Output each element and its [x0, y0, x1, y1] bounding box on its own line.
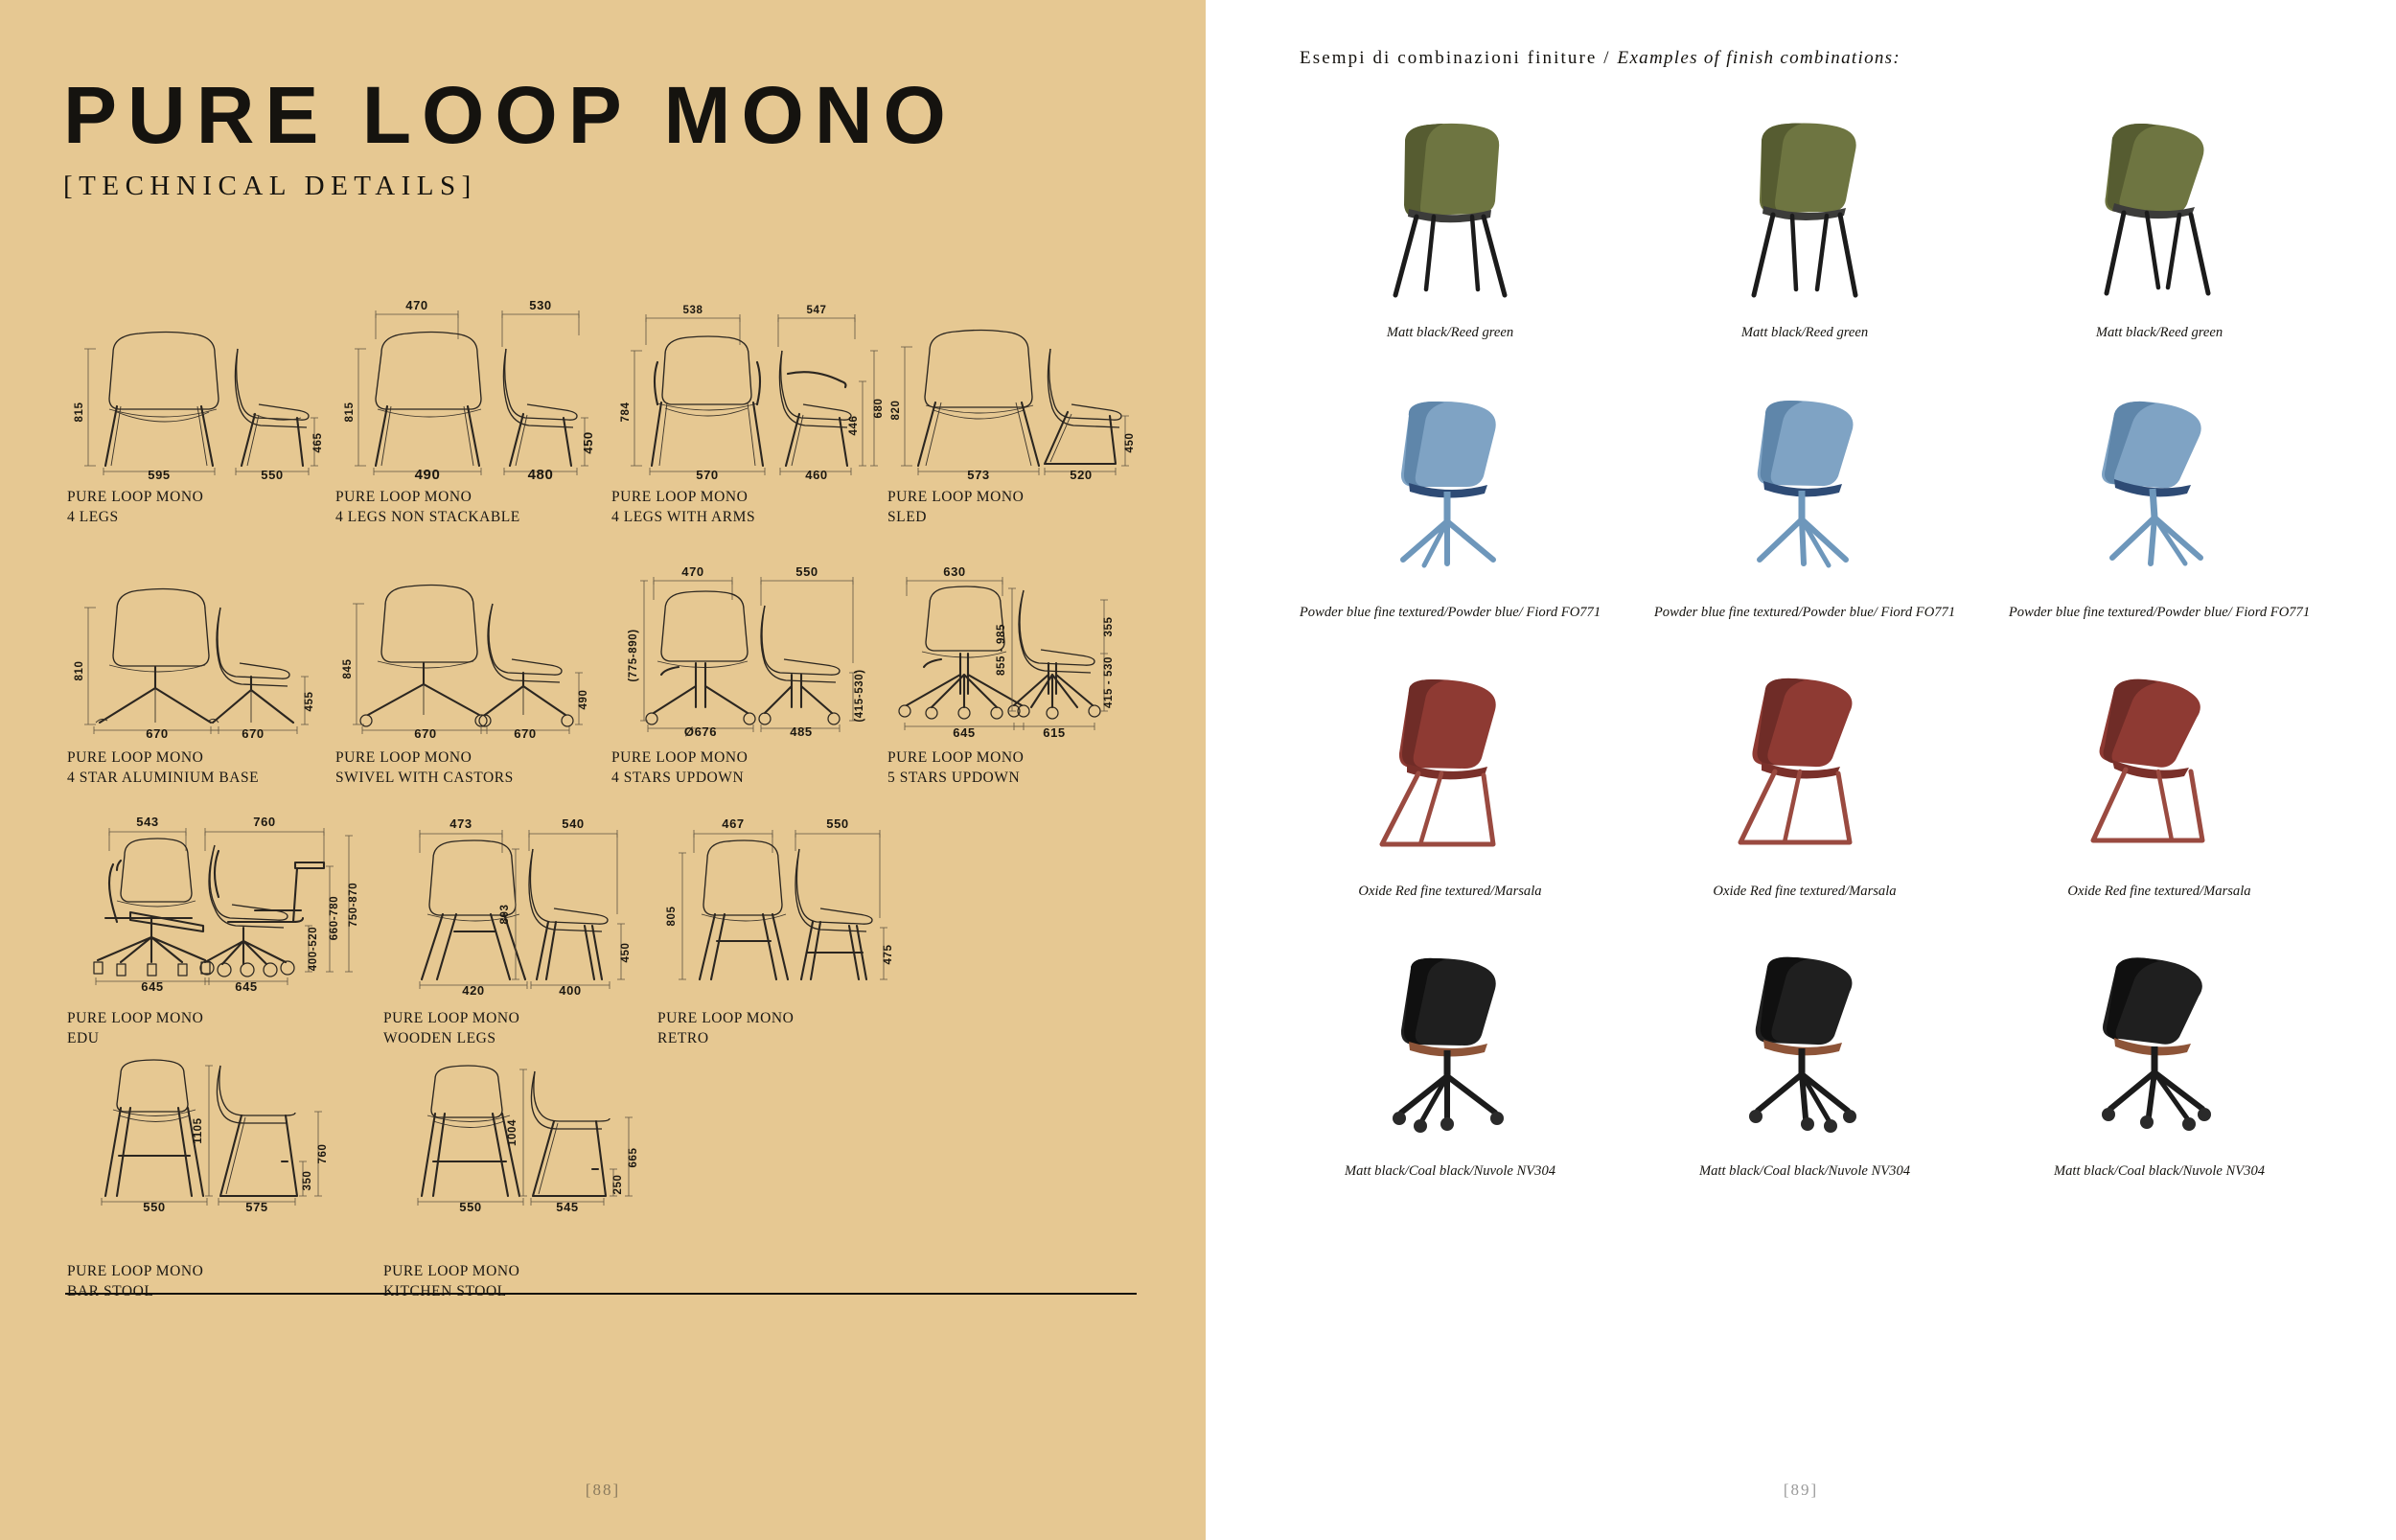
tech-group-4-legs: 815 595	[67, 307, 335, 527]
svg-text:680: 680	[873, 399, 885, 419]
drawing-swivel-castors: 845 670 490	[335, 567, 594, 740]
chair-image-powder-blue-front	[1349, 401, 1551, 592]
finish-combinations-header: Esempi di combinazioni finiture / Exampl…	[1300, 48, 1901, 69]
svg-text:460: 460	[805, 468, 828, 482]
drawing-bar-stool: 550 1105 350	[67, 1062, 355, 1253]
svg-text:550: 550	[826, 816, 849, 831]
svg-text:660-780: 660-780	[329, 896, 340, 940]
tech-group-sled: 820 573 450 520	[887, 307, 1140, 527]
finish-caption: Powder blue fine textured/Powder blue/ F…	[2009, 604, 2310, 623]
tech-caption-retro: PURE LOOP MONO RETRO	[657, 1009, 910, 1048]
svg-text:645: 645	[953, 725, 976, 740]
finish-cell[interactable]: Matt black/Reed green	[1982, 105, 2337, 343]
svg-text:615: 615	[1043, 725, 1066, 740]
tech-caption-5-stars-updown: PURE LOOP MONO 5 STARS UPDOWN	[887, 748, 1140, 788]
svg-text:670: 670	[414, 726, 437, 741]
finish-caption: Oxide Red fine textured/Marsala	[2067, 883, 2250, 902]
tech-group-retro: 467 805 550	[657, 818, 910, 1048]
tech-caption-bar-stool: PURE LOOP MONO BAR STOOL	[67, 1262, 383, 1301]
svg-text:550: 550	[795, 564, 818, 579]
svg-text:540: 540	[562, 816, 585, 831]
svg-text:470: 470	[405, 298, 428, 312]
svg-text:815: 815	[74, 402, 85, 423]
tech-group-4-star-aluminium-base: 810 670 455	[67, 567, 335, 788]
chair-photo	[1982, 664, 2337, 871]
svg-text:520: 520	[1070, 468, 1093, 482]
chair-photo	[1273, 944, 1627, 1151]
finish-cell[interactable]: Powder blue fine textured/Powder blue/ F…	[1627, 385, 1982, 623]
svg-text:630: 630	[943, 564, 966, 579]
svg-text:645: 645	[141, 979, 164, 994]
chair-photo	[1273, 664, 1627, 871]
header-english: Examples of finish combinations:	[1618, 48, 1901, 68]
svg-text:(415-530): (415-530)	[854, 669, 865, 722]
drawing-kitchen-stool: 550 1004 250	[383, 1062, 661, 1253]
tech-row-3: 543	[67, 809, 1140, 1048]
finish-cell[interactable]: Oxide Red fine textured/Marsala	[1982, 664, 2337, 902]
horizontal-rule	[65, 1293, 1137, 1295]
drawing-4-legs-with-arms: 538 78	[611, 307, 870, 479]
drawing-5-stars-updown: 630 64	[887, 567, 1127, 740]
technical-drawings-grid: 815 595	[67, 287, 1140, 1301]
tech-caption-4-legs-non-stackable: PURE LOOP MONO 4 LEGS NON STACKABLE	[335, 488, 611, 527]
finish-cell[interactable]: Matt black/Coal black/Nuvole NV304	[1982, 944, 2337, 1182]
chair-image-reed-green-front	[1349, 121, 1551, 312]
chair-photo	[1273, 105, 1627, 312]
svg-text:855 - 985: 855 - 985	[996, 624, 1007, 676]
drawing-4-legs-non-stackable: 470 815 490	[335, 307, 594, 479]
chair-photo	[1627, 105, 1982, 312]
tech-group-5-stars-updown: 630 64	[887, 567, 1140, 788]
svg-text:550: 550	[459, 1200, 482, 1214]
finish-cell[interactable]: Powder blue fine textured/Powder blue/ F…	[1273, 385, 1627, 623]
svg-text:473: 473	[449, 816, 472, 831]
left-page: PURE LOOP MONO [TECHNICAL DETAILS]	[0, 0, 1206, 1540]
tech-group-4-legs-non-stackable: 470 815 490	[335, 307, 611, 527]
finish-cell[interactable]: Matt black/Reed green	[1273, 105, 1627, 343]
svg-text:820: 820	[890, 401, 902, 421]
svg-text:(775-890): (775-890)	[628, 629, 639, 681]
svg-text:750-870: 750-870	[348, 883, 359, 927]
finish-caption: Oxide Red fine textured/Marsala	[1358, 883, 1541, 902]
svg-text:670: 670	[242, 726, 265, 741]
chair-image-coal-black-front	[1349, 959, 1551, 1151]
finish-row-oxide-red: Oxide Red fine textured/Marsala Oxide Re…	[1273, 664, 2337, 902]
svg-text:575: 575	[245, 1200, 268, 1214]
svg-text:670: 670	[514, 726, 537, 741]
finish-cell[interactable]: Matt black/Coal black/Nuvole NV304	[1627, 944, 1982, 1182]
page-subtitle: [TECHNICAL DETAILS]	[63, 171, 956, 202]
chair-image-reed-green-back	[2059, 121, 2260, 312]
svg-text:645: 645	[235, 979, 258, 994]
chair-photo	[1273, 385, 1627, 592]
finish-cell[interactable]: Matt black/Reed green	[1627, 105, 1982, 343]
folio-right: [89]	[1206, 1481, 2396, 1500]
svg-text:465: 465	[312, 433, 324, 453]
svg-text:470: 470	[681, 564, 704, 579]
tech-row-2: 810 670 455	[67, 548, 1140, 788]
finish-caption: Matt black/Reed green	[1741, 324, 1868, 343]
finish-caption: Matt black/Reed green	[2096, 324, 2223, 343]
chair-photo	[1982, 944, 2337, 1151]
svg-text:550: 550	[261, 468, 284, 482]
tech-caption-4-stars-updown: PURE LOOP MONO 4 STARS UPDOWN	[611, 748, 887, 788]
finish-caption: Matt black/Coal black/Nuvole NV304	[1699, 1162, 1910, 1182]
chair-image-oxide-red-front	[1349, 679, 1551, 871]
finish-row-powder-blue: Powder blue fine textured/Powder blue/ F…	[1273, 385, 2337, 623]
svg-text:450: 450	[1124, 433, 1136, 453]
tech-row-1: 815 595	[67, 287, 1140, 527]
tech-caption-wooden-legs: PURE LOOP MONO WOODEN LEGS	[383, 1009, 657, 1048]
finish-caption: Matt black/Reed green	[1387, 324, 1513, 343]
svg-text:250: 250	[612, 1175, 624, 1195]
svg-text:446: 446	[848, 416, 860, 436]
tech-group-wooden-legs: 473 420 540	[383, 818, 657, 1048]
finish-cell[interactable]: Matt black/Coal black/Nuvole NV304	[1273, 944, 1627, 1182]
svg-text:595: 595	[148, 468, 171, 482]
svg-text:810: 810	[74, 661, 85, 681]
svg-text:450: 450	[620, 943, 632, 963]
finish-caption: Powder blue fine textured/Powder blue/ F…	[1300, 604, 1601, 623]
tech-caption-4-legs-with-arms: PURE LOOP MONO 4 LEGS WITH ARMS	[611, 488, 887, 527]
tech-caption-4-star-aluminium-base: PURE LOOP MONO 4 STAR ALUMINIUM BASE	[67, 748, 335, 788]
svg-text:1105: 1105	[193, 1117, 204, 1143]
finish-photo-grid: Matt black/Reed green	[1273, 105, 2337, 1181]
finish-cell[interactable]: Oxide Red fine textured/Marsala	[1273, 664, 1627, 902]
chair-image-reed-green-three-quarter	[1704, 121, 1905, 312]
svg-text:815: 815	[344, 402, 356, 423]
tech-group-4-legs-with-arms: 538 78	[611, 307, 887, 527]
catalog-spread: PURE LOOP MONO [TECHNICAL DETAILS]	[0, 0, 2396, 1540]
svg-text:805: 805	[666, 907, 678, 927]
chair-image-powder-blue-three-quarter	[1704, 401, 1905, 592]
finish-caption: Matt black/Coal black/Nuvole NV304	[2054, 1162, 2265, 1182]
chair-image-oxide-red-three-quarter	[1704, 679, 1905, 871]
svg-text:350: 350	[302, 1171, 313, 1191]
svg-text:480: 480	[528, 467, 554, 483]
chair-photo	[1982, 105, 2337, 312]
tech-group-swivel-with-castors: 845 670 490	[335, 567, 611, 788]
chair-photo	[1627, 385, 1982, 592]
finish-row-coal-black: Matt black/Coal black/Nuvole NV304	[1273, 944, 2337, 1182]
svg-text:803: 803	[499, 905, 511, 925]
finish-caption: Oxide Red fine textured/Marsala	[1713, 883, 1896, 902]
svg-text:545: 545	[556, 1200, 579, 1214]
svg-text:1004: 1004	[507, 1119, 518, 1146]
chair-image-oxide-red-back	[2059, 679, 2260, 871]
drawing-wooden-legs: 473 420 540	[383, 818, 642, 1000]
finish-row-reed-green: Matt black/Reed green	[1273, 105, 2337, 343]
chair-photo	[1627, 944, 1982, 1151]
svg-text:543: 543	[136, 815, 159, 829]
drawing-edu: 543	[67, 818, 374, 1000]
svg-text:415 - 530: 415 - 530	[1103, 656, 1115, 708]
svg-text:573: 573	[967, 468, 990, 482]
tech-caption-edu: PURE LOOP MONO EDU	[67, 1009, 383, 1048]
drawing-retro: 467 805 550	[657, 818, 897, 1000]
chair-photo	[1982, 385, 2337, 592]
svg-text:550: 550	[143, 1200, 166, 1214]
svg-text:490: 490	[415, 467, 441, 483]
svg-text:570: 570	[696, 468, 719, 482]
svg-text:670: 670	[146, 726, 169, 741]
finish-caption: Matt black/Coal black/Nuvole NV304	[1345, 1162, 1555, 1182]
chair-photo	[1627, 664, 1982, 871]
tech-group-4-stars-updown: 470 (775-890) Ø676	[611, 567, 887, 788]
svg-text:760: 760	[317, 1144, 329, 1164]
tech-caption-kitchen-stool: PURE LOOP MONO KITCHEN STOOL	[383, 1262, 671, 1301]
svg-text:400-520: 400-520	[308, 927, 319, 971]
svg-text:450: 450	[581, 431, 595, 454]
finish-caption: Powder blue fine textured/Powder blue/ F…	[1654, 604, 1955, 623]
svg-text:467: 467	[722, 816, 745, 831]
svg-text:400: 400	[559, 983, 582, 998]
title-block: PURE LOOP MONO [TECHNICAL DETAILS]	[63, 75, 956, 202]
svg-text:760: 760	[253, 815, 276, 829]
svg-text:455: 455	[304, 692, 315, 712]
tech-caption-swivel-with-castors: PURE LOOP MONO SWIVEL WITH CASTORS	[335, 748, 611, 788]
tech-group-kitchen-stool: 550 1004 250	[383, 1062, 671, 1301]
svg-text:Ø676: Ø676	[684, 724, 717, 739]
finish-cell[interactable]: Powder blue fine textured/Powder blue/ F…	[1982, 385, 2337, 623]
folio-left: [88]	[0, 1481, 1206, 1500]
chair-image-coal-black-three-quarter	[1704, 959, 1905, 1151]
finish-cell[interactable]: Oxide Red fine textured/Marsala	[1627, 664, 1982, 902]
drawing-sled: 820 573 450 520	[887, 307, 1127, 479]
tech-group-bar-stool: 550 1105 350	[67, 1062, 383, 1301]
page-title: PURE LOOP MONO	[63, 75, 956, 155]
drawing-4-star-aluminium: 810 670 455	[67, 567, 316, 740]
svg-text:355: 355	[1103, 617, 1115, 637]
svg-text:547: 547	[807, 305, 827, 316]
header-italian: Esempi di combinazioni finiture /	[1300, 48, 1611, 68]
drawing-4-stars-updown: 470 (775-890) Ø676	[611, 567, 870, 740]
svg-text:845: 845	[342, 659, 354, 679]
svg-text:490: 490	[578, 690, 589, 710]
tech-group-edu: 543	[67, 818, 383, 1048]
right-page: Esempi di combinazioni finiture / Exampl…	[1206, 0, 2396, 1540]
svg-text:475: 475	[883, 945, 894, 965]
tech-caption-4-legs: PURE LOOP MONO 4 LEGS	[67, 488, 335, 527]
svg-text:538: 538	[683, 305, 703, 316]
tech-caption-sled: PURE LOOP MONO SLED	[887, 488, 1140, 527]
chair-image-coal-black-back	[2059, 959, 2260, 1151]
svg-text:420: 420	[462, 983, 485, 998]
svg-text:530: 530	[529, 298, 552, 312]
tech-row-4: 550 1105 350	[67, 1071, 1140, 1301]
drawing-4-legs: 815 595	[67, 307, 316, 479]
chair-image-powder-blue-back	[2059, 401, 2260, 592]
svg-text:665: 665	[628, 1148, 639, 1168]
svg-text:784: 784	[620, 402, 632, 423]
svg-text:485: 485	[790, 724, 813, 739]
